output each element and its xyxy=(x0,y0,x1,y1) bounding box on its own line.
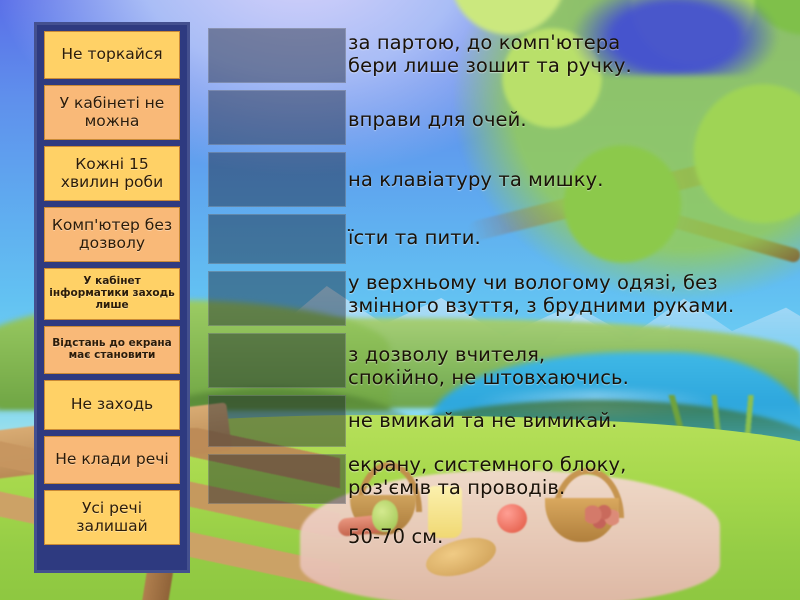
answer-text-6: з дозволу вчителя, спокійно, не штовхаюч… xyxy=(348,344,790,390)
draggable-tiles-panel: Не торкайсяУ кабінеті не можнаКожні 15 х… xyxy=(34,22,190,573)
draggable-tile-2[interactable]: У кабінеті не можна xyxy=(44,85,180,140)
dropzone-column xyxy=(208,28,346,511)
draggable-tile-9[interactable]: Усі речі залишай xyxy=(44,490,180,545)
draggable-tile-1[interactable]: Не торкайся xyxy=(44,31,180,79)
answer-text-9: 50-70 см. xyxy=(348,526,790,549)
dropzone-6[interactable] xyxy=(208,333,346,388)
answer-text-8: екрану, системного блоку, роз'ємів та пр… xyxy=(348,454,790,500)
draggable-tile-5[interactable]: У кабінет інформатики заходь лише xyxy=(44,268,180,320)
draggable-tile-6[interactable]: Відстань до екрана має становити xyxy=(44,326,180,374)
draggable-tile-8[interactable]: Не клади речі xyxy=(44,436,180,484)
answer-text-7: не вмикай та не вимикай. xyxy=(348,410,790,433)
answer-text-4: їсти та пити. xyxy=(348,227,790,250)
dropzone-3[interactable] xyxy=(208,152,346,207)
draggable-tile-7[interactable]: Не заходь xyxy=(44,380,180,430)
answer-text-3: на клавіатуру та мишку. xyxy=(348,169,790,192)
dropzone-8[interactable] xyxy=(208,454,346,504)
answer-text-1: за партою, до комп'ютера бери лише зошит… xyxy=(348,32,790,78)
answer-text-2: вправи для очей. xyxy=(348,109,790,132)
answer-text-5: у верхньому чи вологому одязі, без змінн… xyxy=(348,272,790,318)
dropzone-4[interactable] xyxy=(208,214,346,264)
dropzone-5[interactable] xyxy=(208,271,346,326)
draggable-tile-3[interactable]: Кожні 15 хвилин роби xyxy=(44,146,180,201)
draggable-tile-4[interactable]: Комп'ютер без дозволу xyxy=(44,207,180,262)
dropzone-7[interactable] xyxy=(208,395,346,447)
dropzone-2[interactable] xyxy=(208,90,346,145)
dropzone-1[interactable] xyxy=(208,28,346,83)
